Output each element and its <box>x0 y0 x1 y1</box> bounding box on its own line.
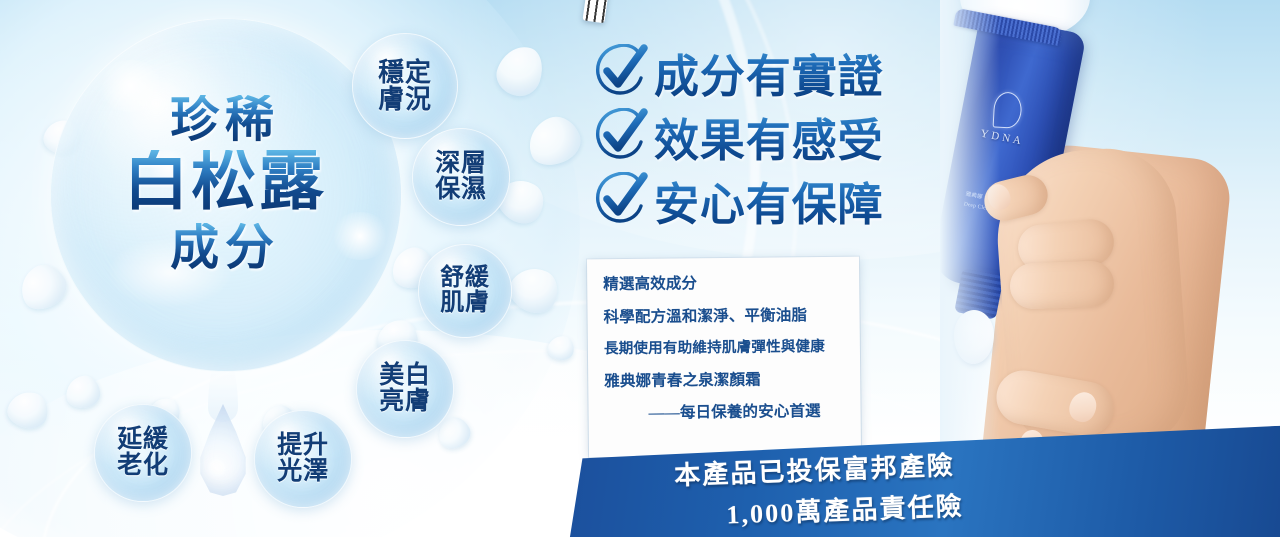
feature-label-line-2: 光澤 <box>277 459 329 485</box>
checklist-item[interactable]: 效果有感受 <box>592 104 884 168</box>
feature-label-line-2: 保濕 <box>435 177 487 203</box>
feature-label-line-1: 提升 <box>277 433 329 459</box>
headline-line-3: 成分 <box>60 223 390 272</box>
feature-label-line-2: 老化 <box>117 453 169 479</box>
description-line: 科學配方溫和潔淨、平衡油脂 <box>603 307 843 325</box>
headline-line-2: 白松露 <box>60 150 390 215</box>
feature-bubble-anti-aging[interactable]: 延緩 老化 <box>94 404 192 502</box>
promo-banner: 珍稀 白松露 成分 穩定 膚況 深層 保濕 舒緩 肌膚 美白 亮膚 延緩 老化 <box>0 0 1280 537</box>
feature-bubble-radiance[interactable]: 提升 光澤 <box>254 410 352 508</box>
feature-bubble-soothing[interactable]: 舒緩 肌膚 <box>418 244 512 338</box>
description-line: 雅典娜青春之泉潔顏霜 <box>604 371 844 389</box>
page-title: 珍稀 白松露 成分 <box>60 95 390 272</box>
feature-bubble-brightening[interactable]: 美白 亮膚 <box>356 340 454 438</box>
water-droplet <box>196 404 250 496</box>
feature-label-line-1: 穩定 <box>378 59 432 86</box>
check-icon <box>592 108 648 164</box>
headline-line-1: 珍稀 <box>60 95 390 144</box>
check-icon <box>592 172 648 228</box>
checklist-label: 效果有感受 <box>654 104 884 169</box>
description-line: 精選高效成分 <box>603 275 843 293</box>
feature-bubble-hydration[interactable]: 深層 保濕 <box>412 128 510 226</box>
feature-label-line-2: 肌膚 <box>440 291 489 316</box>
checklist-item[interactable]: 成分有實證 <box>592 40 884 104</box>
check-icon <box>592 44 648 100</box>
product-description-card: 精選高效成分 科學配方溫和潔淨、平衡油脂 長期使用有助維持肌膚彈性與健康 雅典娜… <box>587 257 861 458</box>
finger <box>1009 260 1115 310</box>
description-line: 長期使用有助維持肌膚彈性與健康 <box>604 340 844 357</box>
foam-petal <box>64 374 102 410</box>
applicator-tip <box>582 0 611 23</box>
benefits-checklist: 成分有實證 效果有感受 安心有保障 <box>592 40 884 232</box>
feature-label-line-2: 亮膚 <box>379 389 431 415</box>
foam-petal <box>491 40 548 101</box>
foam-petal <box>521 110 586 172</box>
foam-petal <box>4 388 52 433</box>
description-closing-line: ——每日保養的安心首選 <box>605 404 845 422</box>
checklist-item[interactable]: 安心有保障 <box>592 168 884 232</box>
checklist-label: 成分有實證 <box>654 40 884 105</box>
foam-petal <box>503 260 565 321</box>
checklist-label: 安心有保障 <box>654 168 884 233</box>
foam-petal <box>546 334 576 362</box>
feature-label-line-1: 美白 <box>379 363 431 389</box>
feature-label-line-1: 舒緩 <box>440 266 489 291</box>
feature-label-line-1: 深層 <box>435 151 487 177</box>
insurance-banner-text: 本產品已投保富邦產險 1,000萬產品責任險 <box>604 443 1027 536</box>
feature-label-line-1: 延緩 <box>117 427 169 453</box>
